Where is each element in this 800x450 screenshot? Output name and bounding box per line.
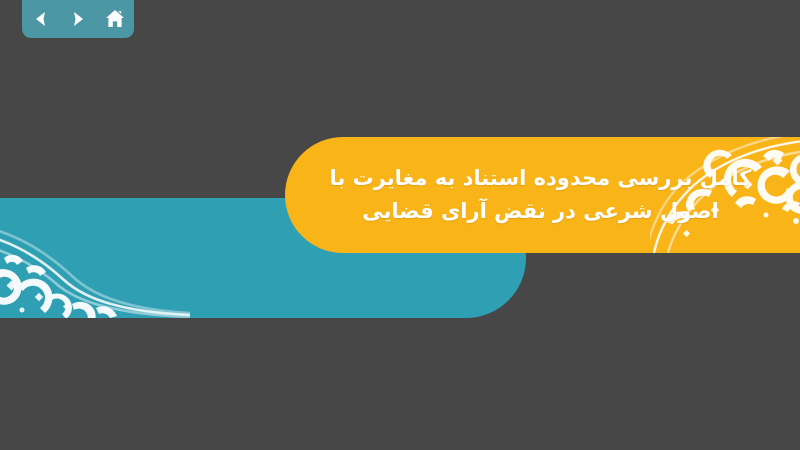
home-button[interactable] [103, 6, 126, 32]
orange-title-band [285, 137, 800, 253]
back-arrow-icon [31, 9, 51, 29]
back-button[interactable] [30, 6, 53, 32]
navigation-bar [22, 0, 134, 38]
orange-arabesque-ornament [650, 137, 800, 253]
teal-arabesque-ornament [0, 198, 190, 318]
forward-button[interactable] [67, 6, 90, 32]
slide-canvas: کامل بررسی محدوده استناد به مغایرت با اص… [0, 0, 800, 450]
forward-arrow-icon [68, 9, 88, 29]
home-icon [104, 8, 126, 30]
